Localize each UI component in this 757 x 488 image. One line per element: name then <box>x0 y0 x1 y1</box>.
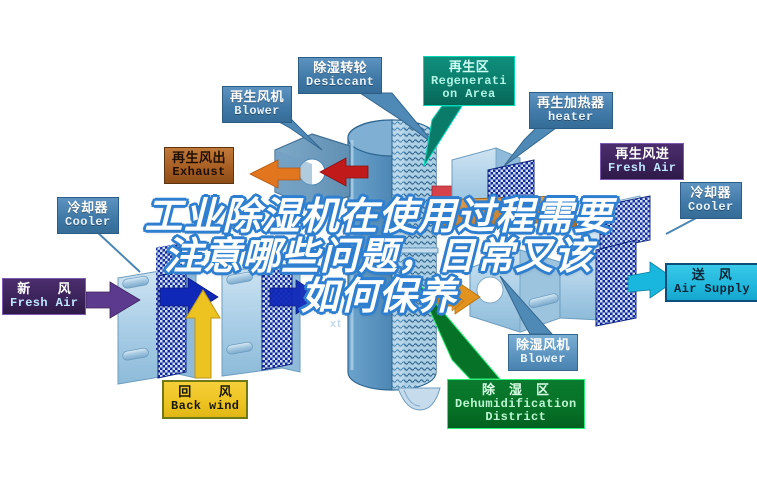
supply-duct <box>560 240 636 326</box>
callout-back-wind-en: Back wind <box>171 400 239 413</box>
callout-fresh-air-in: 新 风 Fresh Air <box>2 278 86 315</box>
watermark-text: xt <box>330 318 342 330</box>
callout-exhaust-air-cn: 再生风出 <box>172 151 226 166</box>
callout-desiccant-rotor: 除湿转轮 Desiccant <box>298 57 382 94</box>
callout-cooler-left-cn: 冷却器 <box>65 201 111 216</box>
callout-regeneration-fresh-air-in-en: Fresh Air <box>608 162 676 175</box>
callout-fresh-air-in-en: Fresh Air <box>10 297 78 310</box>
dehumidifier-schematic-image: 除湿转轮 Desiccant 再生风机 Blower 再生区 Regenerat… <box>0 0 757 488</box>
callout-regeneration-heater: 再生加热器 heater <box>529 92 613 129</box>
callout-dehumidification-district-cn: 除 湿 区 <box>455 383 577 398</box>
callout-regeneration-area-cn: 再生区 <box>431 60 507 75</box>
callout-exhaust-air: 再生风出 Exhaust <box>164 147 234 184</box>
callout-desiccant-rotor-en: Desiccant <box>306 76 374 89</box>
callout-cooler-right-en: Cooler <box>688 201 734 214</box>
callout-regeneration-area-en-line2: on Area <box>431 88 507 101</box>
callout-exhaust-air-en: Exhaust <box>172 166 226 179</box>
callout-air-supply-out-en: Air Supply <box>674 283 750 296</box>
left-mesh-panel-2 <box>262 264 292 370</box>
callout-dehumidification-district-en-line1: Dehumidification <box>455 398 577 411</box>
callout-cooler-right-cn: 冷却器 <box>688 186 734 201</box>
callout-cooler-left-en: Cooler <box>65 216 111 229</box>
callout-regeneration-fresh-air-in: 再生风进 Fresh Air <box>600 143 684 180</box>
dehumidify-blower-housing <box>470 250 560 332</box>
callout-air-supply-out: 送 风 Air Supply <box>665 263 757 302</box>
callout-regeneration-blower: 再生风机 Blower <box>222 86 292 123</box>
callout-dehumidification-district: 除 湿 区 Dehumidification District <box>447 379 585 429</box>
callout-back-wind: 回 风 Back wind <box>162 380 248 419</box>
callout-cooler-right: 冷却器 Cooler <box>680 182 742 219</box>
callout-dehumidify-blower-cn: 除湿风机 <box>516 338 570 353</box>
callout-desiccant-rotor-cn: 除湿转轮 <box>306 61 374 76</box>
callout-dehumidification-district-en-line2: District <box>455 411 577 424</box>
right-cooler-unit <box>584 196 650 250</box>
callout-dehumidify-blower-en: Blower <box>516 353 570 366</box>
drip-tray <box>398 388 440 410</box>
callout-regeneration-area: 再生区 Regenerati on Area <box>423 56 515 106</box>
regeneration-area-tail <box>424 106 462 166</box>
callout-fresh-air-in-cn: 新 风 <box>10 282 78 297</box>
callout-dehumidify-blower: 除湿风机 Blower <box>508 334 578 371</box>
callout-regeneration-area-en-line1: Regenerati <box>431 75 507 88</box>
callout-back-wind-cn: 回 风 <box>171 385 239 400</box>
callout-cooler-left: 冷却器 Cooler <box>57 197 119 234</box>
callout-air-supply-out-cn: 送 风 <box>674 268 750 283</box>
callout-regeneration-blower-cn: 再生风机 <box>230 90 284 105</box>
callout-regeneration-heater-cn: 再生加热器 <box>537 96 605 111</box>
callout-regeneration-blower-en: Blower <box>230 105 284 118</box>
callout-regeneration-heater-en: heater <box>537 111 605 124</box>
left-mesh-panel-1 <box>158 270 186 378</box>
callout-regeneration-fresh-air-in-cn: 再生风进 <box>608 147 676 162</box>
